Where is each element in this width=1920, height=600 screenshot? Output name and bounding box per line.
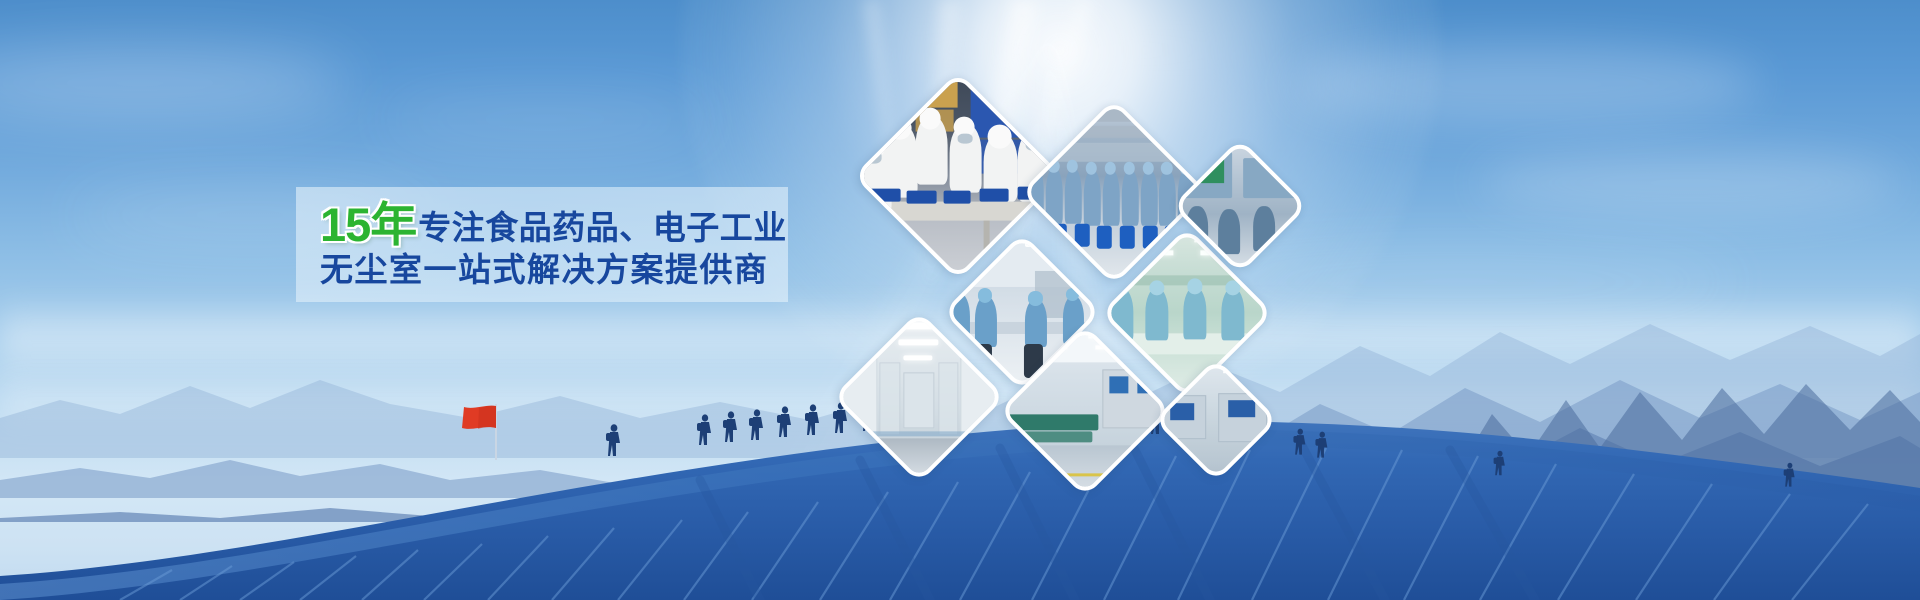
cloud-3 (1290, 44, 1760, 124)
years-highlight: 15年 (320, 198, 416, 251)
hero-banner: 15年专注食品药品、电子工业 无尘室一站式解决方案提供商 (0, 0, 1920, 600)
cloud-5 (380, 96, 710, 142)
cleanroom-photo-diamond-collage (836, 84, 1286, 476)
headline-line-2: 无尘室一站式解决方案提供商 (320, 251, 788, 290)
headline-panel: 15年专注食品药品、电子工业 无尘室一站式解决方案提供商 (296, 187, 788, 302)
cloud-4 (1480, 150, 1900, 216)
headline-line-1-rest: 专注食品药品、电子工业 (418, 209, 787, 246)
headline-line-1: 15年专注食品药品、电子工业 (320, 201, 788, 250)
